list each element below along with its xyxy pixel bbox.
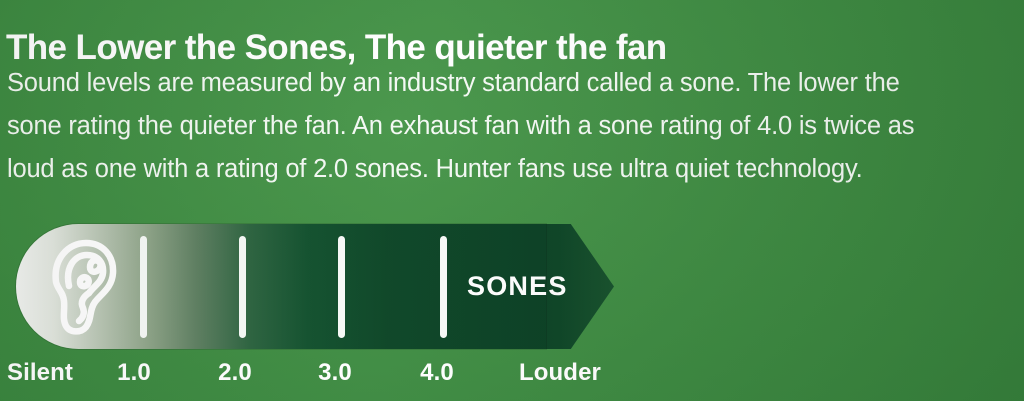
gauge-scale-labels: Silent 1.0 2.0 3.0 4.0 Louder — [0, 359, 660, 395]
gauge-tick-1 — [140, 236, 147, 338]
description-line-2: sone rating the quieter the fan. An exha… — [7, 105, 1012, 148]
sones-arrow-label: SONES — [467, 271, 568, 302]
description-paragraph: Sound levels are measured by an industry… — [7, 62, 1012, 191]
description-line-1: Sound levels are measured by an industry… — [7, 62, 1012, 105]
gauge-tick-2 — [239, 236, 246, 338]
description-line-3: loud as one with a rating of 2.0 sones. … — [7, 148, 1012, 191]
scale-label-3: 3.0 — [318, 359, 352, 387]
gauge-tick-4 — [440, 236, 447, 338]
scale-label-louder: Louder — [519, 359, 601, 387]
sones-gauge: SONES — [16, 224, 600, 349]
scale-label-1: 1.0 — [117, 359, 151, 387]
scale-label-2: 2.0 — [218, 359, 252, 387]
sones-info-banner: The Lower the Sones, The quieter the fan… — [0, 0, 1024, 401]
scale-label-silent: Silent — [7, 359, 73, 387]
scale-label-4: 4.0 — [420, 359, 454, 387]
ear-icon — [42, 236, 120, 338]
gauge-tick-3 — [338, 236, 345, 338]
